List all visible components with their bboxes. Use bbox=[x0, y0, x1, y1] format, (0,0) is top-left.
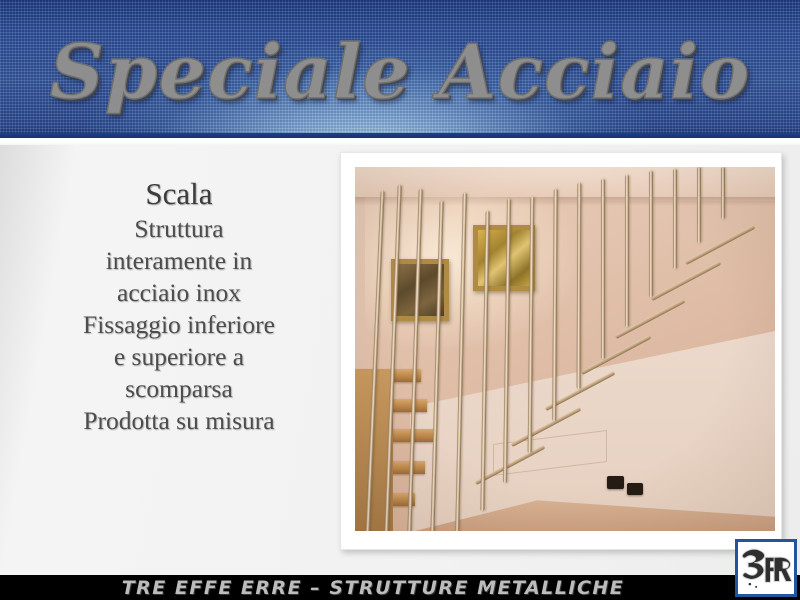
content-line: interamente in bbox=[18, 245, 340, 277]
logo-3fr-icon bbox=[738, 542, 794, 594]
photo-vignette bbox=[355, 167, 775, 531]
content-description: Struttura interamente in acciaio inox Fi… bbox=[18, 213, 340, 437]
content-line: Struttura bbox=[18, 213, 340, 245]
banner-texture bbox=[0, 0, 800, 138]
content-line: Fissaggio inferiore bbox=[18, 309, 340, 341]
photo-frame bbox=[340, 152, 782, 550]
body-top-highlight bbox=[0, 138, 800, 145]
company-logo[interactable] bbox=[735, 539, 797, 597]
page-title: Speciale Acciaio bbox=[0, 22, 800, 122]
content-text-block: Scala Struttura interamente in acciaio i… bbox=[18, 176, 340, 437]
staircase-photo bbox=[355, 167, 775, 531]
content-line: acciaio inox bbox=[18, 277, 340, 309]
content-line: Prodotta su misura bbox=[18, 405, 340, 437]
presentation-slide: Speciale Acciaio Scala Struttura interam… bbox=[0, 0, 800, 600]
company-name-footer: TRE EFFE ERRE – STRUTTURE METALLICHE bbox=[0, 575, 746, 600]
content-line: e superiore a bbox=[18, 341, 340, 373]
content-heading: Scala bbox=[18, 176, 340, 211]
slide-banner: Speciale Acciaio bbox=[0, 0, 800, 138]
content-line: scomparsa bbox=[18, 373, 340, 405]
slide-footer: TRE EFFE ERRE – STRUTTURE METALLICHE bbox=[0, 575, 800, 600]
